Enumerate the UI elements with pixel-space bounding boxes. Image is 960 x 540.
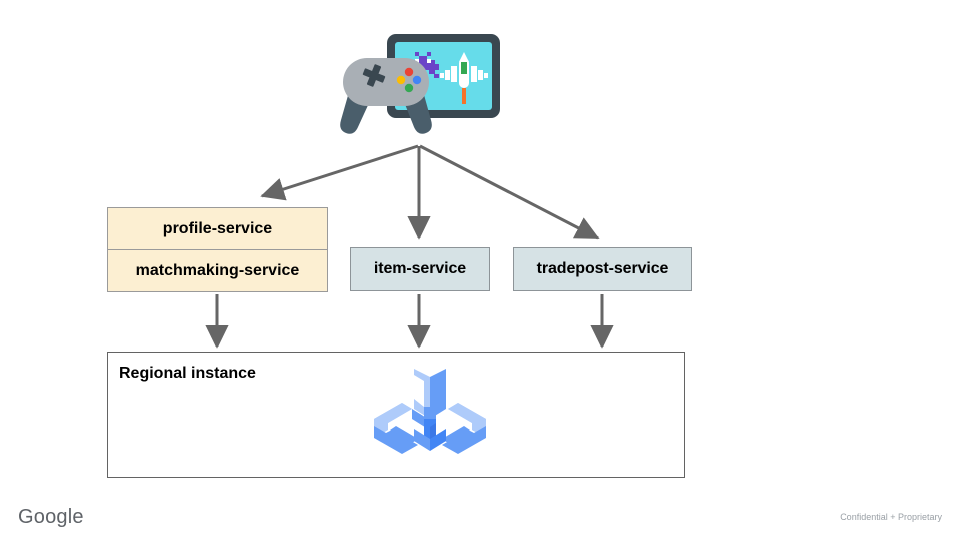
service-box-profile-service[interactable]: profile-service [108, 208, 327, 250]
slide-canvas: profile-service matchmaking-service item… [0, 0, 960, 540]
gamepad-icon [340, 58, 432, 134]
service-box-matchmaking-service[interactable]: matchmaking-service [108, 250, 327, 291]
regional-instance-container[interactable]: Regional instance [107, 352, 685, 478]
google-logo: Google [18, 506, 84, 529]
service-box-tradepost-service[interactable]: tradepost-service [513, 247, 692, 291]
game-console-icon [335, 28, 510, 148]
confidentiality-note: Confidential + Proprietary [840, 512, 942, 522]
service-group-yellow[interactable]: profile-service matchmaking-service [107, 207, 328, 292]
arrow-console-to-profile [262, 146, 418, 196]
gke-center-hub [414, 419, 446, 451]
gke-cluster-icon [370, 367, 490, 477]
gke-prong-right [442, 403, 486, 454]
arrow-console-to-tradepost [420, 146, 598, 238]
service-box-item-service[interactable]: item-service [350, 247, 490, 291]
regional-instance-title: Regional instance [119, 365, 256, 383]
